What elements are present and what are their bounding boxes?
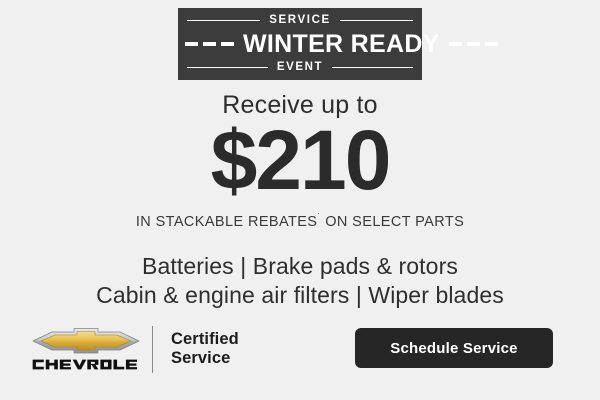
offer-rebate-line: IN STACKABLE REBATES˙ ON SELECT PARTS [0, 215, 600, 230]
chevrolet-certified-service-lockup: Certified Service [30, 318, 239, 380]
dash-icon [185, 42, 198, 46]
dash-icon [203, 42, 216, 46]
logo-divider [152, 326, 153, 373]
badge-rule-right-top [340, 20, 413, 21]
dash-icon [221, 42, 234, 46]
badge-rule-right-bottom [332, 67, 413, 68]
dash-icon [485, 42, 498, 46]
chevrolet-brand-mark [30, 327, 142, 371]
badge-title: WINTER READY [234, 32, 449, 57]
winter-ready-event-badge: SERVICE WINTER READY EVENT [178, 8, 422, 80]
certified-line-2: Service [171, 349, 239, 368]
dash-icon [467, 42, 480, 46]
badge-kicker-top: SERVICE [260, 15, 339, 27]
chevrolet-bowtie-icon [32, 327, 140, 354]
offer-amount: $210 [0, 118, 600, 202]
badge-kicker-bottom: EVENT [268, 62, 332, 74]
product-line-1: Batteries | Brake pads & rotors [0, 252, 600, 281]
product-line-2: Cabin & engine air filters | Wiper blade… [0, 281, 600, 310]
badge-title-row: WINTER READY [178, 29, 422, 59]
certified-line-1: Certified [171, 330, 239, 349]
ad-footer: Certified Service Schedule Service [0, 318, 600, 380]
badge-dashes-left [185, 42, 234, 46]
product-list: Batteries | Brake pads & rotors Cabin & … [0, 252, 600, 310]
certified-service-label: Certified Service [171, 330, 239, 368]
badge-dashes-right [449, 42, 498, 46]
rebate-text-suffix: ON SELECT PARTS [321, 214, 464, 230]
badge-kicker-bottom-row: EVENT [178, 59, 422, 76]
badge-rule-left-top [187, 20, 260, 21]
chevrolet-wordmark [32, 358, 140, 371]
service-offer-ad: SERVICE WINTER READY EVENT Receive up to… [0, 0, 600, 400]
badge-rule-left-bottom [187, 67, 268, 68]
schedule-service-button[interactable]: Schedule Service [355, 328, 553, 368]
badge-kicker-top-row: SERVICE [178, 12, 422, 29]
dash-icon [449, 42, 462, 46]
rebate-text: IN STACKABLE REBATES [136, 214, 318, 230]
